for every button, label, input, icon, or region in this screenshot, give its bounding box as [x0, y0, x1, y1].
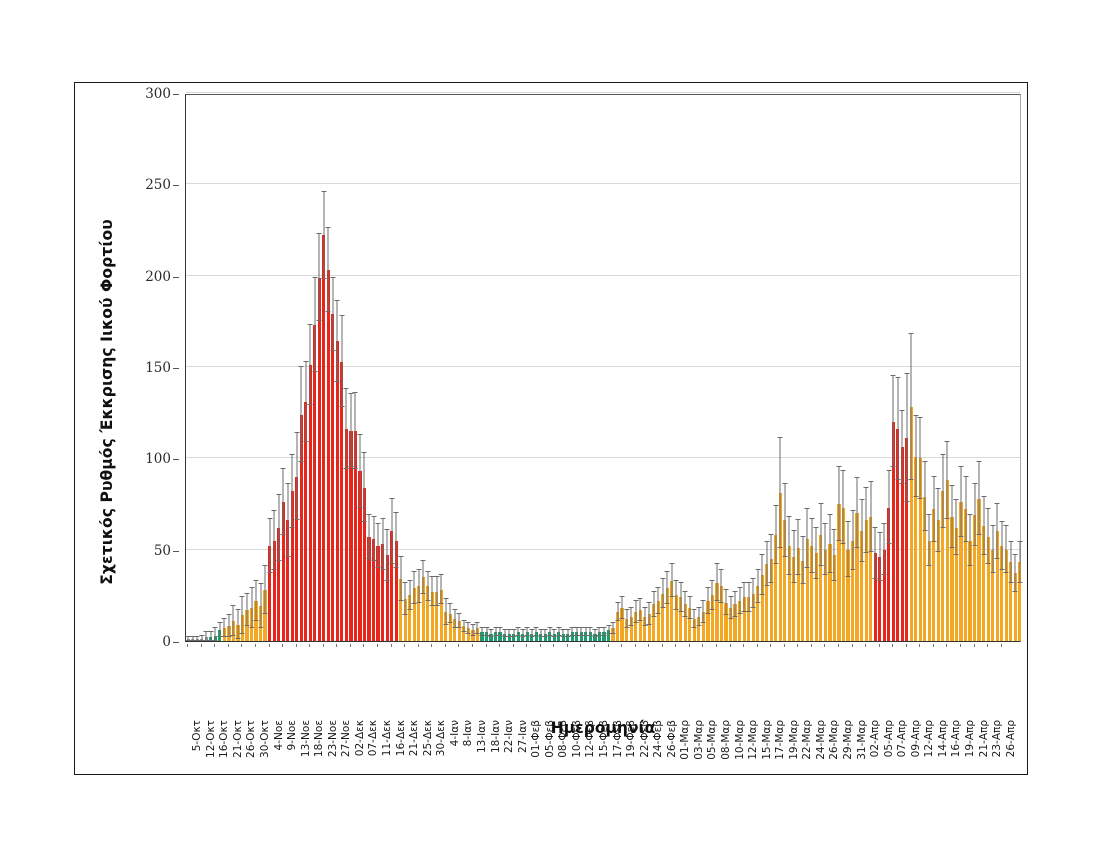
error-cap-upper: [669, 563, 674, 564]
x-tick-mark: [892, 644, 893, 647]
error-bar: [906, 374, 907, 502]
error-cap-upper: [321, 191, 326, 192]
error-bar: [310, 325, 311, 405]
error-bar: [278, 495, 279, 561]
error-bar: [364, 453, 365, 522]
error-cap-lower: [299, 461, 304, 462]
error-bar: [622, 597, 623, 619]
error-cap-lower: [344, 468, 349, 469]
error-bar: [893, 376, 894, 467]
y-tick-mark: [173, 551, 179, 552]
bar-slot: [1000, 93, 1003, 641]
x-tick-mark: [879, 644, 880, 647]
bar: [327, 270, 330, 641]
error-cap-upper: [954, 499, 959, 500]
error-cap-lower: [412, 603, 417, 604]
error-cap-lower: [665, 603, 670, 604]
error-cap-lower: [226, 636, 231, 637]
bar-slot: [254, 93, 257, 641]
error-bar: [269, 519, 270, 574]
error-bar: [920, 418, 921, 498]
error-cap-lower: [669, 596, 674, 597]
error-cap-upper: [791, 530, 796, 531]
error-cap-lower: [945, 518, 950, 519]
error-cap-upper: [678, 582, 683, 583]
bar-slot: [191, 93, 194, 641]
error-bar: [820, 504, 821, 566]
bar-slot: [946, 93, 949, 641]
error-cap-upper: [922, 461, 927, 462]
error-cap-lower: [787, 574, 792, 575]
error-bar: [988, 509, 989, 564]
bar-slot: [593, 93, 596, 641]
error-cap-lower: [836, 540, 841, 541]
error-cap-upper: [371, 516, 376, 517]
error-cap-upper: [439, 574, 444, 575]
error-cap-lower: [900, 483, 905, 484]
error-cap-upper: [760, 554, 765, 555]
error-cap-lower: [855, 547, 860, 548]
x-tick-mark: [255, 644, 256, 647]
bar-slot: [336, 93, 339, 641]
error-cap-upper: [434, 576, 439, 577]
error-cap-lower: [972, 545, 977, 546]
bar-slot: [815, 93, 818, 641]
error-bar: [965, 477, 966, 543]
error-cap-upper: [470, 624, 475, 625]
bar-slot: [874, 93, 877, 641]
bar-slot: [349, 93, 352, 641]
error-cap-upper: [958, 466, 963, 467]
error-bar: [870, 482, 871, 551]
x-tick-mark: [648, 644, 649, 647]
bar-slot: [476, 93, 479, 641]
x-axis-tick-labels: 5-Οκτ12-Οκτ16-Οκτ21-Οκτ26-Οκτ30-Οκτ4-Νοε…: [185, 644, 1021, 724]
error-cap-upper: [629, 607, 634, 608]
error-cap-upper: [380, 518, 385, 519]
bar-slot: [959, 93, 962, 641]
error-cap-upper: [457, 613, 462, 614]
error-cap-lower: [782, 556, 787, 557]
error-bar: [793, 531, 794, 582]
error-cap-upper: [412, 571, 417, 572]
bar-slot: [521, 93, 524, 641]
x-tick-mark: [824, 644, 825, 647]
bar-slot: [905, 93, 908, 641]
error-cap-upper: [452, 609, 457, 610]
error-cap-lower: [642, 625, 647, 626]
error-cap-upper: [710, 580, 715, 581]
bar-slot: [729, 93, 732, 641]
error-bar: [924, 462, 925, 531]
error-cap-upper: [832, 529, 837, 530]
error-cap-upper: [348, 393, 353, 394]
bar-slot: [345, 93, 348, 641]
error-cap-lower: [371, 560, 376, 561]
bar-slot: [883, 93, 886, 641]
error-cap-upper: [1004, 525, 1009, 526]
error-bar: [712, 581, 713, 610]
error-bar: [314, 278, 315, 373]
error-cap-lower: [601, 635, 606, 636]
error-cap-lower: [958, 536, 963, 537]
error-bar: [441, 575, 442, 604]
bar-slot: [358, 93, 361, 641]
bar-slot: [770, 93, 773, 641]
error-cap-lower: [696, 625, 701, 626]
error-cap-lower: [791, 582, 796, 583]
bar-slot: [706, 93, 709, 641]
x-tick-mark: [946, 644, 947, 647]
error-bar: [915, 416, 916, 496]
error-cap-upper: [511, 629, 516, 630]
error-cap-lower: [308, 404, 313, 405]
error-bar: [753, 579, 754, 608]
error-cap-upper: [633, 600, 638, 601]
error-cap-upper: [231, 605, 236, 606]
bar-slot: [819, 93, 822, 641]
bar-slot: [295, 93, 298, 641]
error-cap-upper: [782, 483, 787, 484]
bar-slot: [783, 93, 786, 641]
bar-slot: [923, 93, 926, 641]
bar-slot: [973, 93, 976, 641]
bar-slot: [932, 93, 935, 641]
error-cap-lower: [850, 569, 855, 570]
error-cap-lower: [448, 622, 453, 623]
bar-slot: [919, 93, 922, 641]
error-cap-lower: [710, 609, 715, 610]
error-cap-upper: [385, 529, 390, 530]
error-bar: [694, 610, 695, 628]
x-tick-mark: [540, 644, 541, 647]
error-cap-lower: [489, 636, 494, 637]
bar-slot: [562, 93, 565, 641]
error-bar: [237, 610, 238, 639]
error-bar: [762, 555, 763, 595]
bar-slot: [435, 93, 438, 641]
error-cap-lower: [936, 551, 941, 552]
bar-slot: [602, 93, 605, 641]
bar-slot: [648, 93, 651, 641]
error-cap-lower: [213, 640, 218, 641]
error-bar: [355, 393, 356, 470]
error-bar: [332, 278, 333, 351]
error-cap-lower: [624, 627, 629, 628]
x-tick-mark: [933, 644, 934, 647]
error-bar: [631, 608, 632, 626]
error-cap-upper: [846, 521, 851, 522]
error-cap-lower: [470, 635, 475, 636]
bar-slot: [901, 93, 904, 641]
error-cap-upper: [855, 477, 860, 478]
error-bar: [373, 517, 374, 561]
bar-slot: [512, 93, 515, 641]
error-cap-lower: [552, 636, 557, 637]
bar-slot: [724, 93, 727, 641]
error-bar: [802, 537, 803, 584]
bar-slot: [702, 93, 705, 641]
error-cap-upper: [389, 498, 394, 499]
error-bar: [219, 623, 220, 638]
bar-slot: [557, 93, 560, 641]
error-cap-upper: [339, 315, 344, 316]
error-cap-upper: [245, 593, 250, 594]
error-cap-lower: [868, 551, 873, 552]
error-bar: [811, 519, 812, 574]
error-cap-upper: [217, 622, 222, 623]
error-cap-lower: [800, 583, 805, 584]
error-bar: [775, 506, 776, 564]
error-cap-upper: [249, 587, 254, 588]
error-bar: [816, 528, 817, 579]
error-cap-upper: [199, 635, 204, 636]
error-bar: [350, 394, 351, 467]
error-cap-upper: [240, 596, 245, 597]
y-tick-mark: [173, 368, 179, 369]
bar-slot: [657, 93, 660, 641]
error-cap-lower: [859, 561, 864, 562]
error-cap-upper: [895, 377, 900, 378]
bar-slot: [756, 93, 759, 641]
error-cap-upper: [963, 476, 968, 477]
error-bar: [829, 515, 830, 573]
error-bar: [274, 511, 275, 569]
error-bar: [992, 526, 993, 573]
bar-slot: [291, 93, 294, 641]
error-cap-lower: [796, 574, 801, 575]
bar-slot: [697, 93, 700, 641]
error-cap-lower: [1004, 572, 1009, 573]
bar-slot: [263, 93, 266, 641]
bar-slot: [860, 93, 863, 641]
bar-slot: [855, 93, 858, 641]
bar-slot: [408, 93, 411, 641]
error-cap-upper: [755, 569, 760, 570]
error-bar: [260, 584, 261, 628]
error-bar: [685, 592, 686, 618]
error-cap-upper: [918, 417, 923, 418]
error-bar: [798, 520, 799, 575]
error-bar: [956, 500, 957, 555]
error-cap-lower: [737, 613, 742, 614]
bar: [331, 314, 334, 641]
bar-slot: [937, 93, 940, 641]
error-bar: [459, 614, 460, 629]
error-bar: [337, 301, 338, 381]
error-cap-lower: [922, 530, 927, 531]
bar-slot: [250, 93, 253, 641]
bar-slot: [508, 93, 511, 641]
error-bar: [983, 497, 984, 555]
error-bar: [703, 601, 704, 623]
bar-slot: [616, 93, 619, 641]
x-tick-mark: [608, 644, 609, 647]
bar-slot: [286, 93, 289, 641]
error-bar: [287, 484, 288, 557]
x-tick-mark: [526, 644, 527, 647]
error-cap-lower: [231, 635, 236, 636]
error-cap-upper: [873, 527, 878, 528]
bar-slot: [801, 93, 804, 641]
bar-slot: [539, 93, 542, 641]
error-cap-lower: [543, 636, 548, 637]
bar-slot: [444, 93, 447, 641]
error-cap-lower: [421, 593, 426, 594]
error-bar: [242, 597, 243, 634]
error-cap-upper: [927, 514, 932, 515]
bar-slot: [422, 93, 425, 641]
bar-slot: [1014, 93, 1017, 641]
error-bar: [658, 588, 659, 614]
error-cap-lower: [773, 563, 778, 564]
error-bar: [653, 592, 654, 618]
error-bar: [649, 603, 650, 625]
x-tick-mark: [838, 644, 839, 647]
bar-slot: [837, 93, 840, 641]
error-cap-lower: [633, 622, 638, 623]
error-bar: [879, 533, 880, 580]
error-bar: [757, 570, 758, 603]
x-tick-mark: [757, 644, 758, 647]
error-cap-lower: [520, 636, 525, 637]
error-cap-lower: [995, 558, 1000, 559]
error-cap-lower: [385, 580, 390, 581]
error-cap-lower: [389, 563, 394, 564]
error-bar: [301, 367, 302, 462]
error-cap-lower: [647, 624, 652, 625]
error-cap-upper: [1008, 541, 1013, 542]
bar-slot: [666, 93, 669, 641]
error-bar: [730, 597, 731, 619]
error-bar: [997, 504, 998, 559]
error-bar: [427, 572, 428, 601]
error-cap-lower: [823, 574, 828, 575]
x-tick-mark: [852, 644, 853, 647]
error-cap-upper: [258, 583, 263, 584]
x-tick-mark: [445, 644, 446, 647]
error-bar: [897, 378, 898, 480]
error-cap-lower: [814, 578, 819, 579]
error-bar: [436, 577, 437, 606]
bar-slot: [232, 93, 235, 641]
error-cap-lower: [326, 311, 331, 312]
error-cap-lower: [285, 556, 290, 557]
bar-slot: [652, 93, 655, 641]
error-bar: [323, 192, 324, 280]
bar-slot: [241, 93, 244, 641]
error-cap-upper: [981, 496, 986, 497]
error-bar: [942, 455, 943, 528]
x-tick-mark: [811, 644, 812, 647]
bar-slot: [575, 93, 578, 641]
error-cap-upper: [864, 487, 869, 488]
x-tick-mark: [662, 644, 663, 647]
error-cap-upper: [945, 441, 950, 442]
error-cap-upper: [529, 629, 534, 630]
error-cap-lower: [656, 613, 661, 614]
bar-slot: [950, 93, 953, 641]
error-cap-upper: [254, 580, 259, 581]
bar-slot: [458, 93, 461, 641]
error-cap-upper: [665, 571, 670, 572]
error-cap-upper: [968, 514, 973, 515]
bar-slot: [214, 93, 217, 641]
y-tick-label: 100: [145, 451, 171, 467]
bar-slot: [634, 93, 637, 641]
error-cap-lower: [986, 563, 991, 564]
error-bar: [947, 442, 948, 519]
bar-slot: [223, 93, 226, 641]
error-cap-lower: [769, 582, 774, 583]
chart-page: Σχετικός Ρυθμός Έκκρισης Ιικού Φορτίου 0…: [0, 0, 1100, 850]
error-cap-upper: [403, 582, 408, 583]
bar-slot: [661, 93, 664, 641]
bar-slot: [544, 93, 547, 641]
bar-slot: [914, 93, 917, 641]
error-cap-upper: [592, 629, 597, 630]
error-cap-lower: [733, 616, 738, 617]
error-cap-upper: [705, 587, 710, 588]
error-bar: [843, 471, 844, 544]
error-cap-upper: [394, 512, 399, 513]
error-bar: [305, 362, 306, 442]
bar-slot: [928, 93, 931, 641]
error-cap-upper: [737, 587, 742, 588]
error-bar: [726, 590, 727, 616]
y-tick-label: 300: [145, 86, 171, 102]
error-cap-upper: [714, 563, 719, 564]
error-cap-upper: [520, 629, 525, 630]
bar-slot: [955, 93, 958, 641]
error-bar: [739, 588, 740, 614]
x-tick-mark: [1001, 644, 1002, 647]
bar-slot: [236, 93, 239, 641]
error-bar: [346, 389, 347, 469]
error-bar: [387, 530, 388, 581]
error-bar: [635, 601, 636, 623]
error-cap-upper: [226, 614, 231, 615]
x-tick-mark: [974, 644, 975, 647]
error-cap-upper: [949, 485, 954, 486]
error-bar: [396, 513, 397, 568]
error-cap-upper: [1017, 541, 1022, 542]
bar-slot: [630, 93, 633, 641]
bar-slot: [517, 93, 520, 641]
bar-slot: [774, 93, 777, 641]
bar-series: [186, 95, 1020, 641]
bar-slot: [300, 93, 303, 641]
error-bar: [418, 570, 419, 603]
bar-slot: [471, 93, 474, 641]
error-bar: [857, 478, 858, 547]
bar-slot: [806, 93, 809, 641]
x-tick-mark: [716, 644, 717, 647]
error-bar: [405, 583, 406, 616]
bar-slot: [869, 93, 872, 641]
error-bar: [852, 511, 853, 569]
error-cap-lower: [615, 620, 620, 621]
x-tick-mark: [553, 644, 554, 647]
error-cap-upper: [326, 227, 331, 228]
error-cap-upper: [601, 627, 606, 628]
error-bar: [644, 608, 645, 626]
error-cap-upper: [611, 622, 616, 623]
error-cap-lower: [918, 498, 923, 499]
x-tick-mark: [472, 644, 473, 647]
x-tick-mark: [431, 644, 432, 647]
error-bar: [378, 524, 379, 568]
